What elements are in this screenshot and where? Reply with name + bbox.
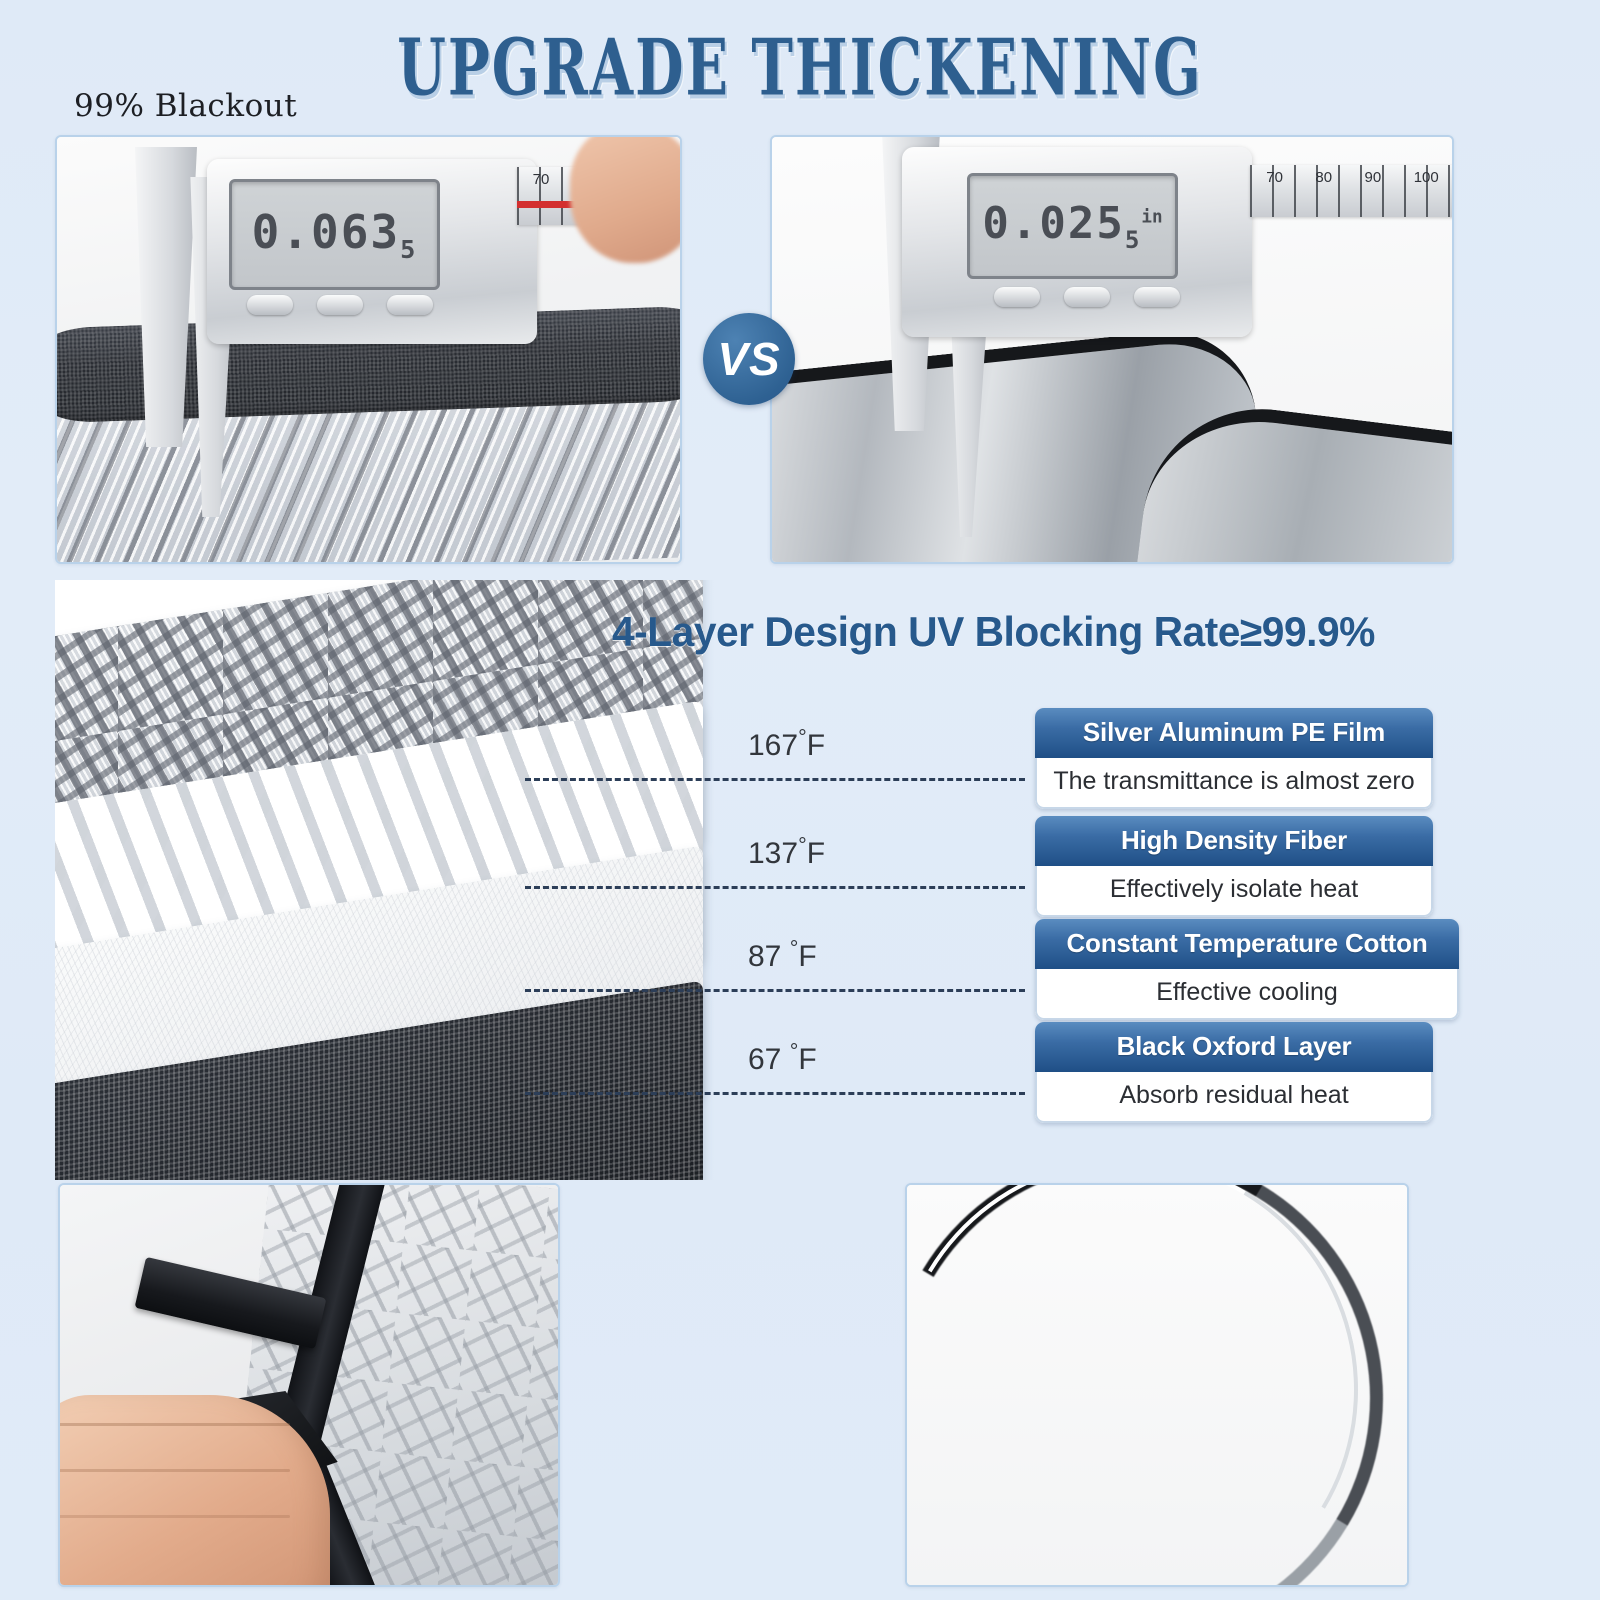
infographic-page: UPGRADE THICKENING 99% Blackout 0.0635 7… [0, 0, 1600, 1600]
layer-tag: Black Oxford Layer Absorb residual heat [1035, 1022, 1433, 1123]
caliper-button-onoff[interactable] [317, 295, 363, 315]
layer-temperature: 87 °F [748, 935, 817, 974]
connector-dashed-line [525, 989, 1025, 992]
thin-shade-caliper-photo: 0.0255in 70 80 90 100 [770, 135, 1454, 564]
layer-temperature: 67 °F [748, 1038, 817, 1077]
layer-row: 137°F High Density Fiber Effectively iso… [700, 824, 1470, 924]
caliper-lcd-screen: 0.0635 [229, 179, 440, 290]
caliper-lcd-screen: 0.0255in [967, 173, 1178, 279]
connector-dashed-line [525, 1092, 1025, 1095]
caliper-scale-bar: 70 80 90 100 [1250, 165, 1454, 217]
layer-description: Effectively isolate heat [1035, 866, 1433, 917]
vs-badge: VS [703, 313, 795, 405]
caliper-button-mm[interactable] [994, 287, 1040, 307]
velcro-strap-closeup-photo [58, 1183, 560, 1587]
caliper-reading: 0.0635 [252, 205, 418, 264]
layer-tag: Silver Aluminum PE Film The transmittanc… [1035, 708, 1433, 809]
layer-description: Effective cooling [1035, 969, 1459, 1020]
thick-shade-caliper-photo: 0.0635 70 80 90 100 [55, 135, 682, 564]
caliper-reading: 0.0255in [982, 198, 1162, 254]
layer-name: Black Oxford Layer [1035, 1022, 1433, 1072]
hand-holding-strap [58, 1395, 330, 1587]
caliper-button-mm[interactable] [247, 295, 293, 315]
connector-dashed-line [525, 778, 1025, 781]
layer-temperature: 137°F [748, 832, 825, 871]
caliper-scale-numbers: 70 80 90 100 [1250, 169, 1454, 186]
connector-dashed-line [525, 886, 1025, 889]
layer-stack-illustration [55, 580, 715, 1180]
layer-name: Silver Aluminum PE Film [1035, 708, 1433, 758]
layer-name: Constant Temperature Cotton [1035, 919, 1459, 969]
layer-row: 87 °F Constant Temperature Cotton Effect… [700, 927, 1470, 1027]
layer-tag: High Density Fiber Effectively isolate h… [1035, 816, 1433, 917]
caliper-button-zero[interactable] [1134, 287, 1180, 307]
layer-row: 67 °F Black Oxford Layer Absorb residual… [700, 1030, 1470, 1130]
layer-name: High Density Fiber [1035, 816, 1433, 866]
layer-description: Absorb residual heat [1035, 1072, 1433, 1123]
layer-temperature: 167°F [748, 724, 825, 763]
steel-spring-band-photo [905, 1183, 1409, 1587]
layer-description: The transmittance is almost zero [1035, 758, 1433, 809]
blackout-subtitle: 99% Blackout [74, 88, 297, 124]
caliper-button-onoff[interactable] [1064, 287, 1110, 307]
layer-tag: Constant Temperature Cotton Effective co… [1035, 919, 1459, 1020]
caliper-button-zero[interactable] [387, 295, 433, 315]
layer-row: 167°F Silver Aluminum PE Film The transm… [700, 716, 1470, 816]
layers-section-title: 4-Layer Design UV Blocking Rate≥99.9% [612, 608, 1375, 656]
